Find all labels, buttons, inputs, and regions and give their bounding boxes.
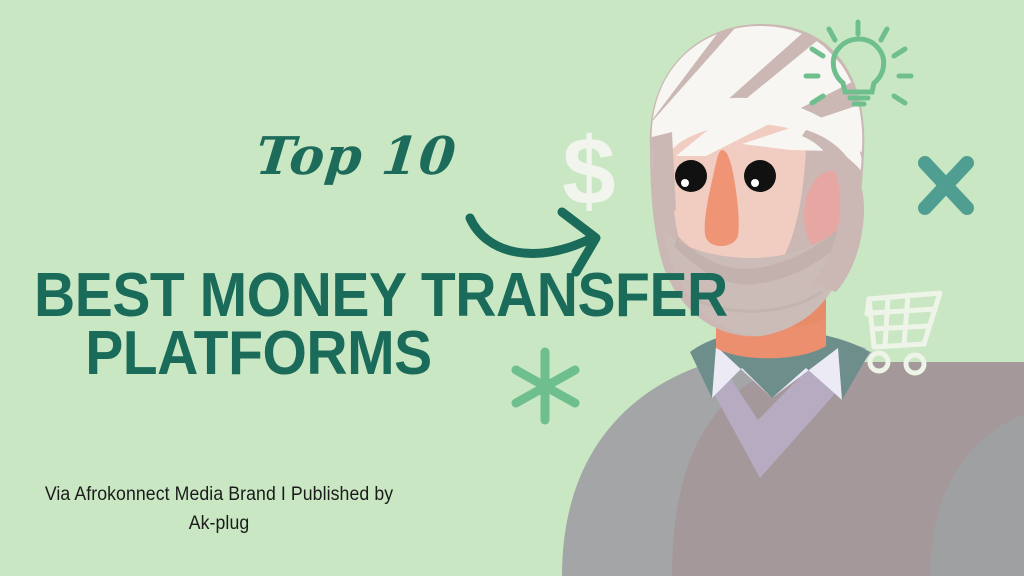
headline-line-2: PLATFORMS: [34, 325, 586, 383]
credit-line-2: Ak-plug: [26, 509, 411, 538]
page-title: BEST MONEY TRANSFER PLATFORMS: [34, 267, 586, 384]
cross-x-icon: [925, 163, 967, 208]
dollar-sign-icon: $: [562, 118, 615, 225]
lightbulb-icon: [806, 22, 911, 104]
poster-canvas: $: [0, 0, 1024, 576]
headline-line-1: BEST MONEY TRANSFER: [34, 267, 586, 325]
kicker-text: Top 10: [253, 131, 459, 183]
svg-text:$: $: [562, 118, 615, 225]
shopping-cart-icon: [867, 293, 940, 373]
credit-line-1: Via Afrokonnect Media Brand I Published …: [45, 484, 393, 505]
credit-text: Via Afrokonnect Media Brand I Published …: [26, 480, 411, 539]
